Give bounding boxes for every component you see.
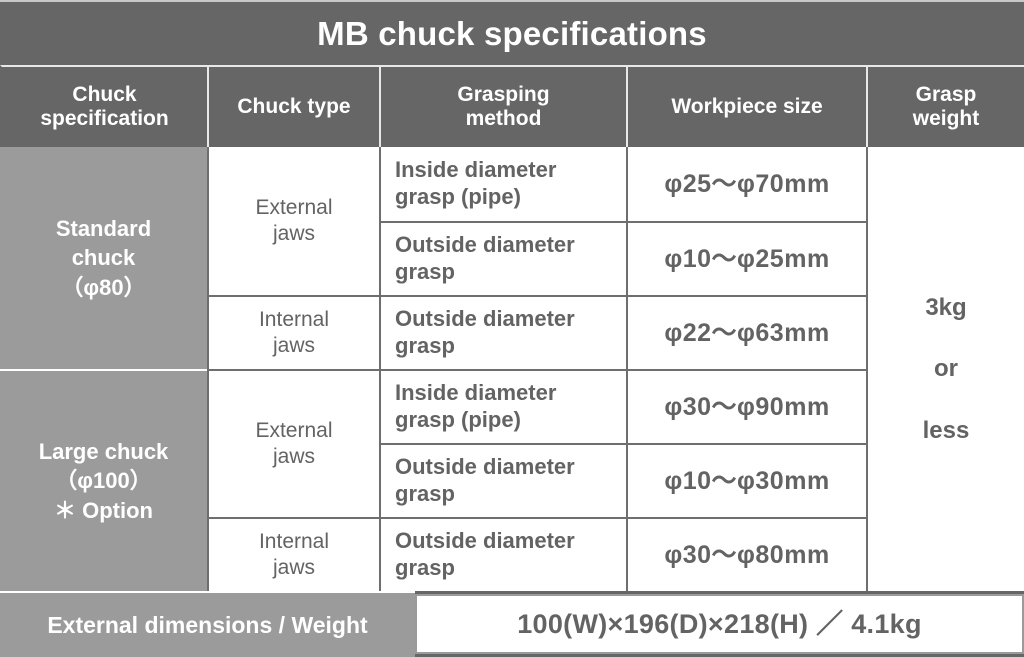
header-line: method xyxy=(457,107,549,131)
method-line: grasp (pipe) xyxy=(395,184,556,211)
method-line: grasp xyxy=(395,259,575,286)
column-header-chuck-specification: Chuck specification xyxy=(0,65,207,147)
header-line: Grasping xyxy=(457,83,549,107)
header-line: weight xyxy=(913,107,980,131)
group-line: （φ80） xyxy=(56,273,151,302)
table-title: MB chuck specifications xyxy=(0,0,1024,65)
jaw-line: jaws xyxy=(255,444,332,470)
jaw-line: Internal xyxy=(259,529,329,555)
grasping-method-row-6: Outside diameter grasp xyxy=(379,517,626,591)
method-line: grasp xyxy=(395,333,575,360)
method-line: grasp (pipe) xyxy=(395,407,556,434)
group-line: （φ100） xyxy=(39,466,169,495)
workpiece-size-row-6: φ30〜φ80mm xyxy=(626,517,866,591)
method-line: Outside diameter xyxy=(395,454,575,481)
grasp-weight-line: 3kg xyxy=(923,277,970,338)
mb-chuck-specifications-table: MB chuck specifications Chuck specificat… xyxy=(0,0,1024,657)
method-line: Outside diameter xyxy=(395,306,575,333)
group-line: Large chuck xyxy=(39,437,169,466)
jaw-line: External xyxy=(255,418,332,444)
column-header-workpiece-size: Workpiece size xyxy=(626,65,866,147)
workpiece-size-row-5: φ10〜φ30mm xyxy=(626,443,866,517)
jaw-line: jaws xyxy=(255,221,332,247)
workpiece-size-row-2: φ10〜φ25mm xyxy=(626,221,866,295)
header-line: Chuck xyxy=(40,83,168,107)
jaw-line: External xyxy=(255,195,332,221)
method-line: Inside diameter xyxy=(395,157,556,184)
grasping-method-row-4: Inside diameter grasp (pipe) xyxy=(379,369,626,443)
jaw-line: jaws xyxy=(259,555,329,581)
jaw-line: jaws xyxy=(259,333,329,359)
header-line: Grasp xyxy=(913,83,980,107)
workpiece-size-row-1: φ25〜φ70mm xyxy=(626,147,866,221)
group-line: Standard xyxy=(56,214,151,243)
grasp-weight-line: less xyxy=(923,400,970,461)
chuck-type-external-jaws-standard: External jaws xyxy=(207,147,379,295)
external-dimensions-value: 100(W)×196(D)×218(H) ／ 4.1kg xyxy=(415,594,1024,654)
column-header-grasping-method: Grasping method xyxy=(379,65,626,147)
method-line: Inside diameter xyxy=(395,380,556,407)
chuck-type-external-jaws-large: External jaws xyxy=(207,369,379,517)
jaw-line: Internal xyxy=(259,307,329,333)
chuck-type-internal-jaws-standard: Internal jaws xyxy=(207,295,379,369)
grasping-method-row-3: Outside diameter grasp xyxy=(379,295,626,369)
workpiece-size-row-4: φ30〜φ90mm xyxy=(626,369,866,443)
group-line: chuck xyxy=(56,243,151,272)
column-header-grasp-weight: Grasp weight xyxy=(866,65,1024,147)
external-dimensions-label: External dimensions / Weight xyxy=(0,591,415,657)
method-line: Outside diameter xyxy=(395,528,575,555)
method-line: grasp xyxy=(395,555,575,582)
group-line: ＊ Option xyxy=(39,496,169,525)
grasping-method-row-5: Outside diameter grasp xyxy=(379,443,626,517)
method-line: grasp xyxy=(395,481,575,508)
group-cell-large-chuck: Large chuck （φ100） ＊ Option xyxy=(0,369,207,591)
column-header-chuck-type: Chuck type xyxy=(207,65,379,147)
grasp-weight-line: or xyxy=(923,338,970,399)
chuck-type-internal-jaws-large: Internal jaws xyxy=(207,517,379,591)
workpiece-size-row-3: φ22〜φ63mm xyxy=(626,295,866,369)
method-line: Outside diameter xyxy=(395,232,575,259)
header-line: specification xyxy=(40,107,168,131)
group-cell-standard-chuck: Standard chuck （φ80） xyxy=(0,147,207,369)
grasp-weight-value: 3kg or less xyxy=(866,147,1024,591)
grasping-method-row-2: Outside diameter grasp xyxy=(379,221,626,295)
grasping-method-row-1: Inside diameter grasp (pipe) xyxy=(379,147,626,221)
